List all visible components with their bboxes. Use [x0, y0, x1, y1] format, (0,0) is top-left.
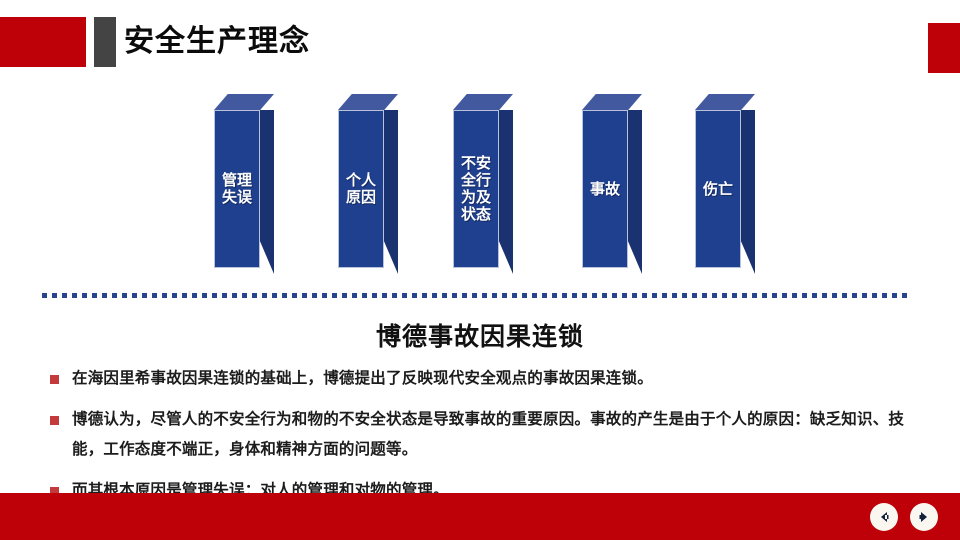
chain-block-4: 事故 [582, 94, 642, 274]
block-front-face: 个人原因 [338, 110, 384, 268]
block-top-face [582, 94, 642, 110]
list-item-text: 在海因里希事故因果连锁的基础上，博德提出了反映现代安全观点的事故因果连锁。 [72, 370, 653, 387]
block-side-face [260, 110, 274, 274]
header-gray-tab [94, 17, 116, 67]
block-front-face: 事故 [582, 110, 628, 268]
block-top-face [214, 94, 274, 110]
block-top-face [695, 94, 755, 110]
next-slide-button[interactable] [910, 503, 938, 531]
block-side-face [384, 110, 398, 274]
prev-slide-button[interactable] [870, 503, 898, 531]
block-side-face [499, 110, 513, 274]
list-item: 博德认为，尽管人的不安全行为和物的不安全状态是导致事故的重要原因。事故的产生是由… [48, 405, 928, 465]
dotted-divider [42, 293, 912, 298]
chain-block-1: 管理失误 [214, 94, 274, 274]
block-top-face [453, 94, 513, 110]
bullet-square-icon [50, 375, 59, 384]
block-top-face [338, 94, 398, 110]
block-side-face [628, 110, 642, 274]
list-item: 在海因里希事故因果连锁的基础上，博德提出了反映现代安全观点的事故因果连锁。 [48, 364, 928, 394]
bullet-square-icon [50, 416, 59, 425]
slide-nav-controls [870, 503, 938, 531]
slide-canvas: 安全生产理念 管理失误 个人原因 不安全行为及状态 事故 伤亡 [0, 0, 960, 540]
chain-block-label: 伤亡 [701, 181, 735, 198]
header-red-block-left [0, 17, 86, 67]
next-arrow-icon [916, 509, 932, 525]
footer-bar [0, 493, 960, 540]
block-front-face: 伤亡 [695, 110, 741, 268]
chain-block-label: 事故 [588, 181, 622, 198]
block-side-face [741, 110, 755, 274]
chain-block-5: 伤亡 [695, 94, 755, 274]
list-item-text: 博德认为，尽管人的不安全行为和物的不安全状态是导致事故的重要原因。事故的产生是由… [72, 411, 904, 458]
chain-block-label: 不安全行为及状态 [458, 155, 494, 223]
prev-arrow-icon [876, 509, 892, 525]
chain-block-label: 个人原因 [344, 172, 378, 206]
header-red-block-right [928, 23, 960, 73]
section-heading: 博德事故因果连锁 [0, 317, 960, 353]
chain-block-label: 管理失误 [220, 172, 254, 206]
block-front-face: 不安全行为及状态 [453, 110, 499, 268]
page-title: 安全生产理念 [124, 22, 310, 62]
chain-block-2: 个人原因 [338, 94, 398, 274]
block-front-face: 管理失误 [214, 110, 260, 268]
chain-block-3: 不安全行为及状态 [453, 94, 513, 274]
